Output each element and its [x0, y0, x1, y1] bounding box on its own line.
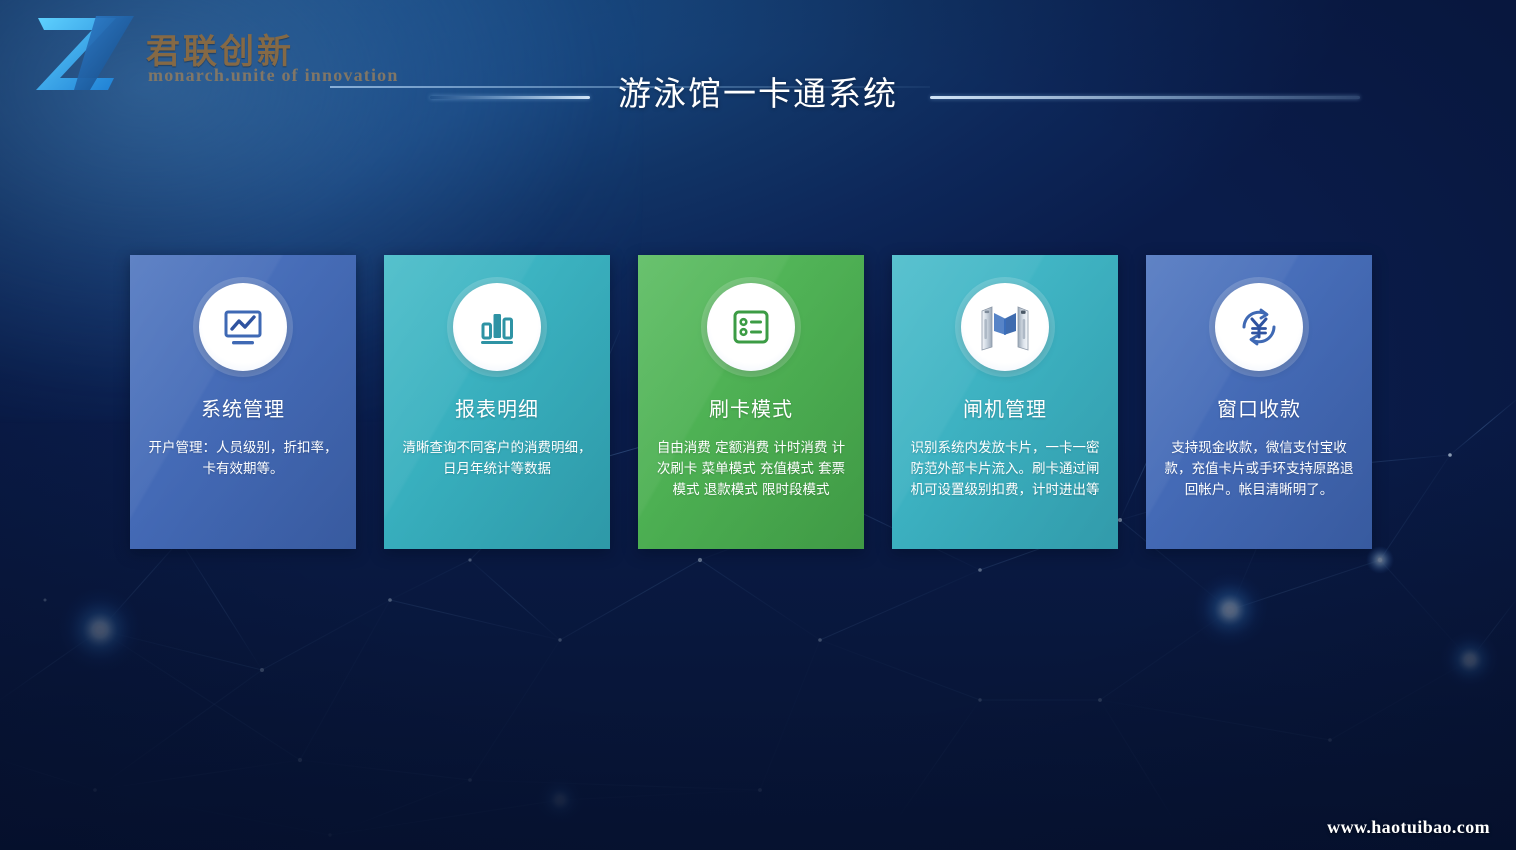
- turnstile-gate-icon: [961, 283, 1049, 371]
- monitor-chart-icon: [199, 283, 287, 371]
- yuan-refund-icon: [1215, 283, 1303, 371]
- feature-card-system-management[interactable]: 系统管理 开户管理：人员级别，折扣率，卡有效期等。: [130, 255, 356, 549]
- card-description: 自由消费 定额消费 计时消费 计次刷卡 菜单模式 充值模式 套票模式 退款模式 …: [638, 438, 864, 501]
- slide-canvas: 君联创新 monarch.unite of innovation 游泳馆一卡通系…: [0, 0, 1516, 850]
- card-title: 闸机管理: [963, 393, 1047, 422]
- feature-card-report-detail[interactable]: 报表明细 清晰查询不同客户的消费明细，日月年统计等数据: [384, 255, 610, 549]
- page-title: 游泳馆一卡通系统: [0, 72, 1516, 116]
- card-title: 报表明细: [455, 393, 539, 422]
- bar-chart-icon: [453, 283, 541, 371]
- card-description: 开户管理：人员级别，折扣率，卡有效期等。: [130, 438, 356, 480]
- title-row: 游泳馆一卡通系统: [0, 72, 1516, 128]
- card-description: 支持现金收款，微信支付宝收款，充值卡片或手环支持原路退回帐户。帐目清晰明了。: [1146, 438, 1372, 501]
- card-title: 系统管理: [201, 393, 285, 422]
- site-watermark: www.haotuibao.com: [1327, 817, 1490, 838]
- card-description: 识别系统内发放卡片，一卡一密防范外部卡片流入。刷卡通过闸机可设置级别扣费，计时进…: [892, 438, 1118, 501]
- feature-card-gate-management[interactable]: 闸机管理 识别系统内发放卡片，一卡一密防范外部卡片流入。刷卡通过闸机可设置级别扣…: [892, 255, 1118, 549]
- feature-card-card-swipe-mode[interactable]: 刷卡模式 自由消费 定额消费 计时消费 计次刷卡 菜单模式 充值模式 套票模式 …: [638, 255, 864, 549]
- feature-card-counter-payment[interactable]: 窗口收款 支持现金收款，微信支付宝收款，充值卡片或手环支持原路退回帐户。帐目清晰…: [1146, 255, 1372, 549]
- title-rule-right: [930, 96, 1360, 99]
- card-title: 刷卡模式: [709, 393, 793, 422]
- card-title: 窗口收款: [1217, 393, 1301, 422]
- checklist-icon: [707, 283, 795, 371]
- card-description: 清晰查询不同客户的消费明细，日月年统计等数据: [384, 438, 610, 480]
- feature-card-row: 系统管理 开户管理：人员级别，折扣率，卡有效期等。 报表明细 清晰查询不同客户的…: [130, 255, 1386, 549]
